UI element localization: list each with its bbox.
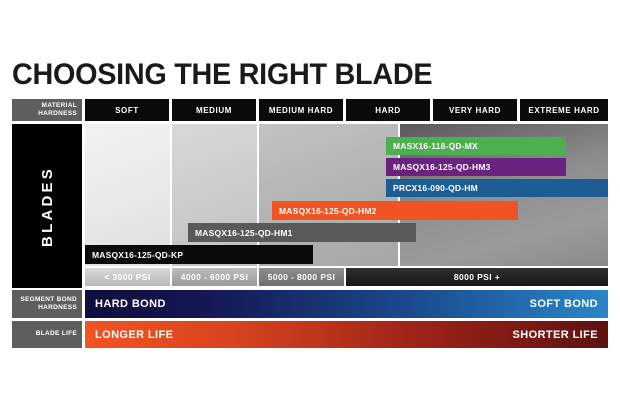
hardness-column-soft[interactable]: SOFT — [85, 99, 169, 121]
psi-range-5000-8000: 5000 - 8000 PSI — [259, 268, 344, 286]
psi-range-under-3000: < 3000 PSI — [85, 268, 170, 286]
blade-bar-masqx16-125-qd-kp[interactable]: MASQX16-125-QD-KP — [85, 245, 313, 264]
segment-bond-hardness-bar: HARD BOND SOFT BOND — [85, 290, 608, 318]
psi-range-4000-6000: 4000 - 6000 PSI — [172, 268, 257, 286]
blades-vertical-label: BLADES — [39, 166, 56, 247]
blade-bar-masqx16-125-qd-hm1[interactable]: MASQX16-125-QD-HM1 — [188, 223, 416, 242]
row-label-text: SEGMENT BOND HARDNESS — [12, 296, 77, 313]
blade-bar-prcx16-090-qd-hm[interactable]: PRCX16-090-QD-HM — [386, 179, 608, 197]
shorter-life-label: SHORTER LIFE — [513, 329, 598, 341]
blade-bar-masqx16-125-qd-hm3[interactable]: MASQX16-125-QD-HM3 — [386, 158, 566, 176]
hardness-column-hard[interactable]: HARD — [346, 99, 430, 121]
blade-bar-masqx16-125-qd-hm2[interactable]: MASQX16-125-QD-HM2 — [272, 201, 518, 220]
row-label-blade-life: BLADE LIFE — [12, 321, 82, 348]
blade-bar-label: MASQX16-125-QD-HM1 — [195, 228, 293, 238]
page-title: CHOOSING THE RIGHT BLADE — [12, 58, 432, 92]
longer-life-label: LONGER LIFE — [95, 329, 173, 341]
blade-bar-label: PRCX16-090-QD-HM — [393, 183, 478, 193]
blade-bar-masx16-118-qd-mx[interactable]: MASX16-118-QD-MX — [386, 137, 566, 155]
row-label-text: BLADE LIFE — [36, 330, 77, 339]
psi-range-8000-plus: 8000 PSI + — [346, 268, 608, 286]
blade-selection-chart: CHOOSING THE RIGHT BLADE MATERIAL HARDNE… — [0, 0, 620, 413]
psi-label: 4000 - 6000 PSI — [181, 272, 248, 282]
blade-bar-label: MASQX16-125-QD-KP — [92, 250, 183, 260]
blade-bar-label: MASQX16-125-QD-HM2 — [279, 206, 377, 216]
row-label-blades: BLADES — [12, 124, 82, 288]
hardness-column-medium-hard[interactable]: MEDIUM HARD — [259, 99, 343, 121]
soft-bond-label: SOFT BOND — [530, 298, 598, 310]
hardness-column-extreme-hard[interactable]: EXTREME HARD — [520, 99, 608, 121]
hardness-column-medium[interactable]: MEDIUM — [172, 99, 256, 121]
hard-bond-label: HARD BOND — [95, 298, 166, 310]
blade-bar-label: MASX16-118-QD-MX — [393, 141, 478, 151]
blade-life-bar: LONGER LIFE SHORTER LIFE — [85, 321, 608, 348]
psi-label: 5000 - 8000 PSI — [268, 272, 335, 282]
row-label-material-hardness: MATERIAL HARDNESS — [12, 99, 82, 121]
psi-label: < 3000 PSI — [104, 272, 150, 282]
hardness-column-very-hard[interactable]: VERY HARD — [433, 99, 517, 121]
blade-bar-label: MASQX16-125-QD-HM3 — [393, 162, 491, 172]
psi-label: 8000 PSI + — [454, 272, 500, 282]
row-label-segment-bond-hardness: SEGMENT BOND HARDNESS — [12, 290, 82, 318]
